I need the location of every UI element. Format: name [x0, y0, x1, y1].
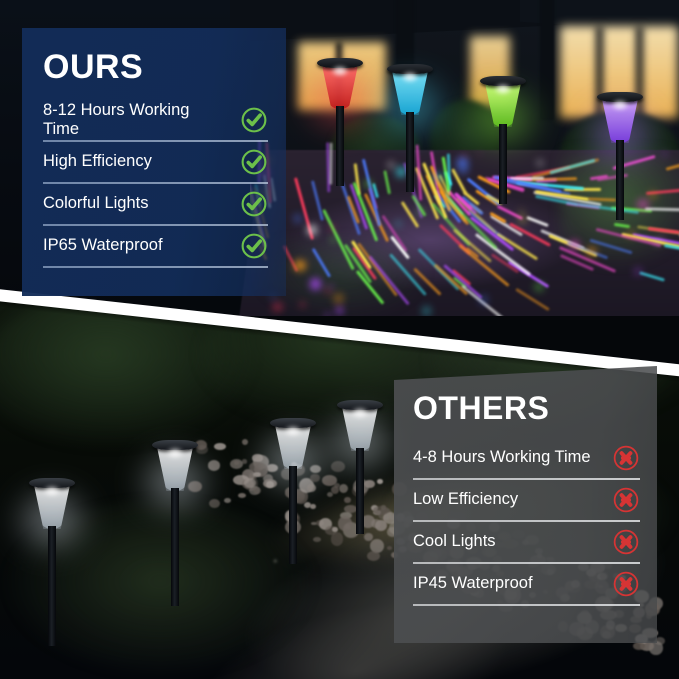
lamp-spark [352, 408, 368, 418]
others-feature-label: 4-8 Hours Working Time [413, 448, 591, 467]
light-speck [479, 295, 488, 304]
others-feature-label: IP45 Waterproof [413, 574, 533, 593]
check-circle-icon [240, 190, 268, 218]
ours-feature-row: 8-12 Hours Working Time [43, 100, 268, 140]
light-speck [655, 239, 660, 244]
light-ray [640, 271, 666, 281]
light-speck [520, 210, 523, 213]
check-circle-icon [240, 232, 268, 260]
light-speck [294, 260, 305, 271]
light-speck [446, 204, 451, 209]
others-feature-label: Cool Lights [413, 532, 496, 551]
lamp-spark [167, 448, 183, 458]
light-speck [336, 307, 343, 314]
pebble [238, 493, 246, 498]
check-circle-icon [240, 106, 268, 134]
cross-circle-icon [612, 528, 640, 556]
light-speck [519, 216, 526, 223]
light-speck [537, 160, 542, 165]
cross-circle-icon [612, 528, 640, 556]
cross-circle-icon [612, 570, 640, 598]
lamp-pole [616, 140, 624, 220]
light-ray [414, 268, 442, 296]
check-circle-icon [240, 190, 268, 218]
ours-feature-row: IP65 Waterproof [43, 226, 268, 266]
ours-feature-row: High Efficiency [43, 142, 268, 182]
light-speck [388, 162, 394, 168]
cross-circle-icon [612, 486, 640, 514]
lamp-pole [289, 466, 297, 564]
light-speck [307, 225, 317, 235]
others-feature-separator [413, 604, 640, 606]
lamp-pole [499, 124, 507, 204]
others-feature-row: Cool Lights [413, 522, 640, 562]
pebble [224, 498, 231, 504]
light-speck [325, 289, 330, 294]
light-speck [310, 278, 321, 289]
light-speck [365, 181, 371, 187]
ours-feature-label: High Efficiency [43, 152, 152, 171]
others-feature-list: 4-8 Hours Working TimeLow EfficiencyCool… [394, 438, 657, 606]
ours-feature-separator [43, 182, 268, 184]
cross-circle-icon [612, 444, 640, 472]
light-ray [416, 144, 423, 200]
lamp-pole [406, 112, 414, 192]
others-feature-separator [413, 520, 640, 522]
cross-circle-icon [612, 570, 640, 598]
lamp-spark [402, 72, 418, 82]
lamp-pole [171, 488, 179, 606]
pebble [310, 504, 316, 510]
others-feature-separator [413, 562, 640, 564]
ours-title: OURS [43, 50, 286, 84]
others-feature-row: 4-8 Hours Working Time [413, 438, 640, 478]
light-ray [578, 203, 639, 214]
lamp-pole [356, 448, 364, 534]
ours-feature-label: 8-12 Hours Working Time [43, 101, 221, 139]
pebble [364, 533, 373, 541]
lamp-pole [336, 106, 344, 186]
ours-feature-label: IP65 Waterproof [43, 236, 163, 255]
light-speck [293, 214, 302, 223]
others-title: OTHERS [413, 392, 657, 424]
light-ray [311, 180, 324, 220]
light-speck [637, 199, 649, 211]
light-ray [515, 288, 550, 311]
comparison-graphic: OURS 8-12 Hours Working TimeHigh Efficie… [0, 0, 679, 679]
lamp-spark [285, 426, 301, 436]
others-feature-row: Low Efficiency [413, 480, 640, 520]
light-ray [330, 142, 333, 184]
lamp-spark [332, 66, 348, 76]
cross-circle-icon [612, 444, 640, 472]
light-speck [454, 225, 460, 231]
light-speck [650, 192, 656, 198]
light-ray [384, 171, 392, 195]
light-speck [396, 167, 407, 178]
light-ray [323, 209, 355, 270]
light-speck [272, 302, 282, 312]
others-feature-separator [413, 478, 640, 480]
pebble [338, 516, 352, 530]
light-speck [663, 152, 667, 156]
ours-feature-list: 8-12 Hours Working TimeHigh EfficiencyCo… [22, 100, 286, 268]
ours-panel: OURS 8-12 Hours Working TimeHigh Efficie… [22, 28, 286, 296]
lamp-pole [48, 526, 56, 646]
light-ray [368, 256, 410, 306]
light-speck [587, 247, 595, 255]
lamp-spark [495, 84, 511, 94]
cross-circle-icon [612, 486, 640, 514]
light-speck [422, 306, 432, 316]
ours-feature-separator [43, 140, 268, 142]
light-speck [634, 268, 641, 275]
light-speck [661, 234, 665, 238]
light-ray [648, 227, 679, 234]
light-speck [331, 237, 336, 242]
light-speck [325, 313, 330, 316]
light-speck [328, 284, 333, 289]
others-feature-row: IP45 Waterproof [413, 564, 640, 604]
lamp-spark [612, 100, 628, 110]
light-ray [666, 152, 679, 170]
ours-feature-label: Colorful Lights [43, 194, 148, 213]
check-circle-icon [240, 106, 268, 134]
light-ray [311, 247, 330, 276]
ours-feature-row: Colorful Lights [43, 184, 268, 224]
light-speck [396, 221, 401, 226]
light-ray [614, 222, 630, 227]
light-speck [534, 282, 544, 292]
others-feature-label: Low Efficiency [413, 490, 518, 509]
light-ray [526, 215, 548, 226]
check-circle-icon [240, 148, 268, 176]
light-ray [664, 244, 679, 253]
ours-feature-separator [43, 266, 268, 268]
light-speck [459, 166, 467, 174]
check-circle-icon [240, 232, 268, 260]
pebble [344, 497, 351, 504]
pebble [332, 527, 337, 532]
ours-feature-separator [43, 224, 268, 226]
lamp-spark [44, 486, 60, 496]
others-panel: OTHERS 4-8 Hours Working TimeLow Efficie… [394, 366, 657, 643]
check-circle-icon [240, 148, 268, 176]
light-speck [300, 302, 305, 307]
light-speck [333, 293, 344, 304]
